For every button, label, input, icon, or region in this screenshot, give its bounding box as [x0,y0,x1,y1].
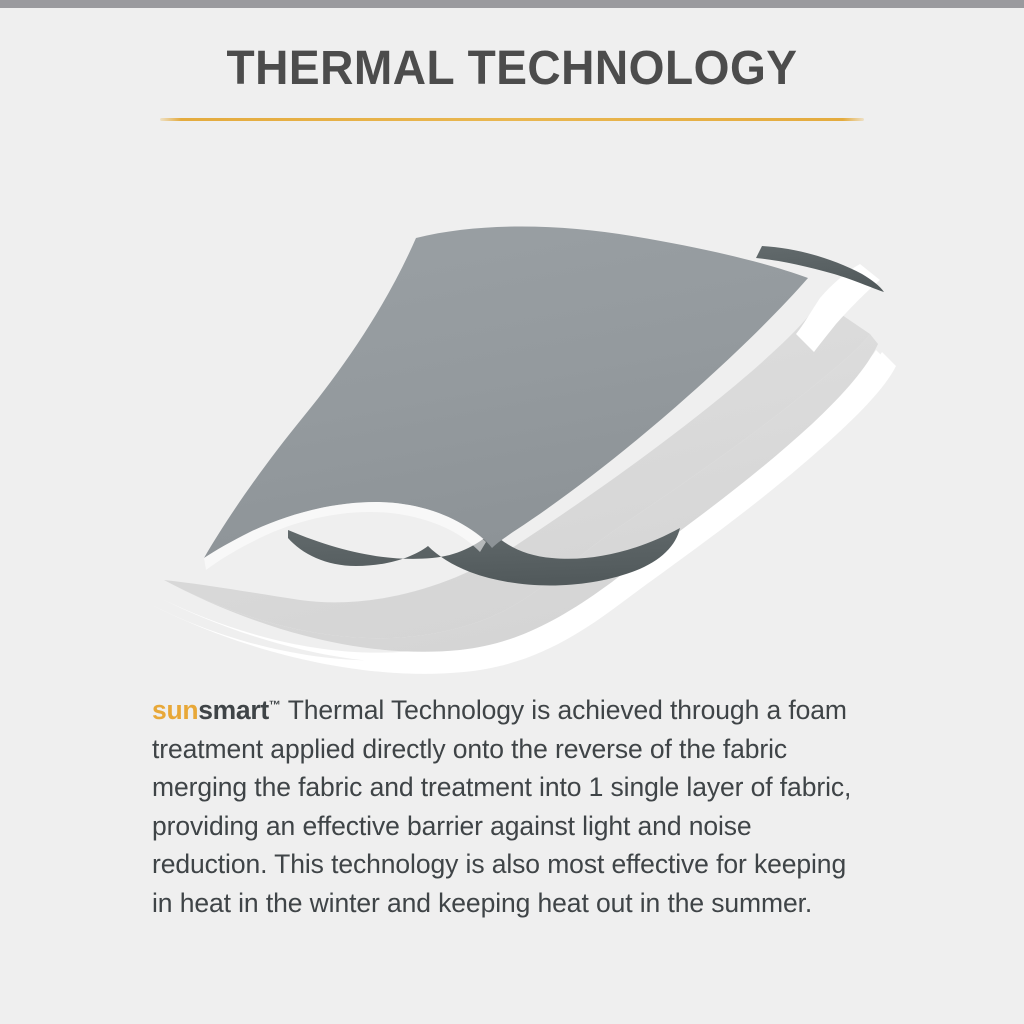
brand-sun-text: sun [152,695,198,725]
paragraph-text: Thermal Technology is achieved through a… [152,695,851,918]
fabric-illustration [120,180,910,680]
trademark-symbol: ™ [269,698,281,712]
title-divider [160,118,864,121]
thermal-technology-panel: THERMAL TECHNOLOGY [0,0,1024,1024]
brand-smart-text: smart [198,695,269,725]
page-title: THERMAL TECHNOLOGY [20,44,1003,94]
top-edge-bar [0,0,1024,8]
body-paragraph: sunsmart™ Thermal Technology is achieved… [152,686,868,922]
layered-fabric-svg [120,180,910,680]
header-section: THERMAL TECHNOLOGY [0,44,1024,94]
